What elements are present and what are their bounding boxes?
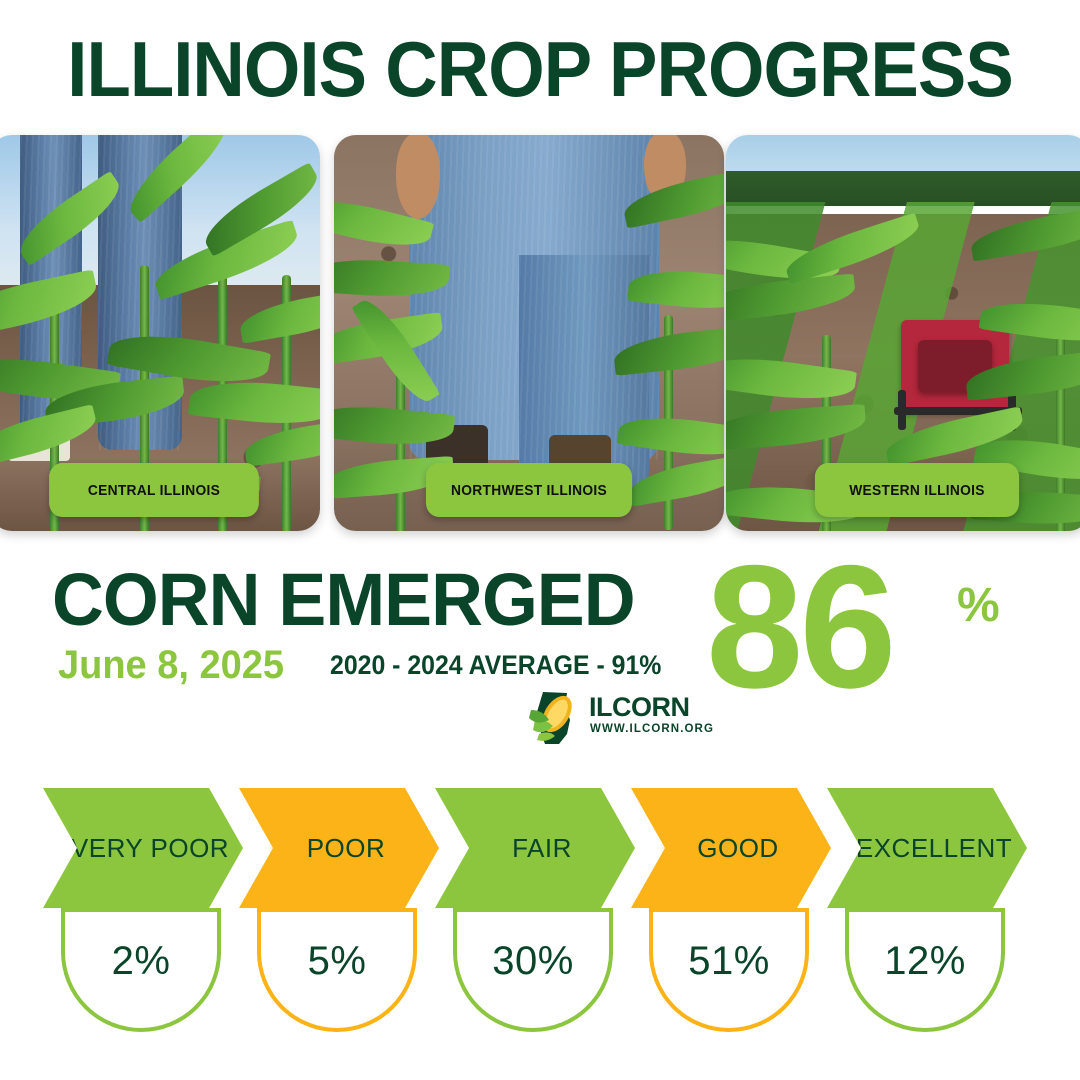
condition-chevron: EXCELLENT xyxy=(827,788,1027,908)
logo-url: WWW.ILCORN.ORG xyxy=(590,723,714,735)
report-date: June 8, 2025 xyxy=(58,645,284,685)
condition-chevron: GOOD xyxy=(631,788,831,908)
condition-value: 12% xyxy=(884,939,966,984)
infographic-canvas: ILLINOIS CROP PROGRESS xyxy=(0,0,1080,1080)
illinois-corn-icon xyxy=(523,690,585,746)
condition-column: EXCELLENT 12% xyxy=(827,780,1027,1080)
condition-value: 5% xyxy=(308,939,367,984)
condition-label: FAIR xyxy=(512,833,572,864)
page-title: ILLINOIS CROP PROGRESS xyxy=(38,24,1042,115)
condition-label: EXCELLENT xyxy=(856,833,1012,864)
metric-title: CORN EMERGED xyxy=(52,563,635,637)
logo-wordmark: ILCORN xyxy=(589,694,690,721)
condition-value-bubble: 30% xyxy=(453,908,613,1032)
photo-northwest-illinois: NORTHWEST ILLINOIS xyxy=(334,135,724,531)
condition-value: 2% xyxy=(112,939,171,984)
condition-column: FAIR 30% xyxy=(435,780,635,1080)
photo-caption: WESTERN ILLINOIS xyxy=(815,463,1019,517)
condition-value-bubble: 12% xyxy=(845,908,1005,1032)
condition-label: VERY POOR xyxy=(71,833,229,864)
photo-caption: CENTRAL ILLINOIS xyxy=(49,463,259,517)
condition-chevron: VERY POOR xyxy=(43,788,243,908)
metric-value: 86 xyxy=(706,540,893,715)
condition-value: 30% xyxy=(492,939,574,984)
condition-value-bubble: 2% xyxy=(61,908,221,1032)
condition-value-bubble: 51% xyxy=(649,908,809,1032)
condition-value: 51% xyxy=(688,939,770,984)
photo-caption: NORTHWEST ILLINOIS xyxy=(426,463,632,517)
condition-column: POOR 5% xyxy=(239,780,439,1080)
photo-strip: CENTRAL ILLINOIS xyxy=(0,135,1080,531)
condition-value-bubble: 5% xyxy=(257,908,417,1032)
ilcorn-logo: ILCORN WWW.ILCORN.ORG xyxy=(523,690,695,746)
photo-central-illinois: CENTRAL ILLINOIS xyxy=(0,135,320,531)
condition-chevron: POOR xyxy=(239,788,439,908)
condition-column: GOOD 51% xyxy=(631,780,831,1080)
photo-western-illinois: WESTERN ILLINOIS xyxy=(726,135,1080,531)
condition-label: POOR xyxy=(307,833,386,864)
condition-label: GOOD xyxy=(697,833,778,864)
condition-chevron: FAIR xyxy=(435,788,635,908)
condition-column: VERY POOR 2% xyxy=(43,780,243,1080)
metric-value-unit: % xyxy=(957,582,1000,630)
condition-chart: VERY POOR 2% POOR 5% FAIR 30% xyxy=(0,780,1080,1080)
five-year-average: 2020 - 2024 AVERAGE - 91% xyxy=(330,652,661,679)
